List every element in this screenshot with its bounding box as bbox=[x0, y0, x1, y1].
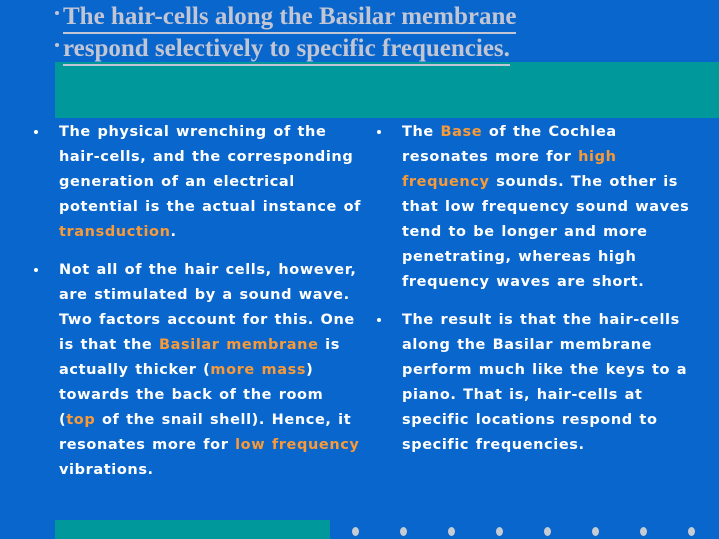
title-bullet-icon bbox=[55, 43, 59, 47]
slide-canvas: The hair-cells along the Basilar membran… bbox=[0, 0, 719, 539]
footer-dot-icon bbox=[688, 527, 695, 536]
title-line-1-text: The hair-cells along the Basilar membran… bbox=[63, 2, 516, 34]
bullet-dot-icon bbox=[377, 318, 381, 322]
bullet-text: sounds. The other is that low frequency … bbox=[402, 174, 689, 290]
footer-dot-icon bbox=[448, 527, 455, 536]
bullet-text: vibrations. bbox=[59, 462, 154, 478]
highlighted-term: low frequency bbox=[235, 437, 359, 453]
title-line-1: The hair-cells along the Basilar membran… bbox=[55, 2, 695, 34]
footer-accent-block bbox=[55, 520, 330, 539]
highlighted-term: Base bbox=[441, 124, 483, 140]
bullet-item: The Base of the Cochlea resonates more f… bbox=[368, 120, 708, 295]
highlighted-term: more mass bbox=[210, 362, 306, 378]
title-bullet-icon bbox=[55, 11, 59, 15]
bullet-dot-icon bbox=[34, 268, 38, 272]
header-accent-block bbox=[55, 62, 719, 118]
footer-dot-row bbox=[352, 527, 712, 539]
footer-dot-icon bbox=[640, 527, 647, 536]
bullet-text: The physical wrenching of the hair-cells… bbox=[59, 124, 361, 215]
footer-dot-icon bbox=[400, 527, 407, 536]
footer-dot-icon bbox=[544, 527, 551, 536]
slide-title: The hair-cells along the Basilar membran… bbox=[55, 2, 695, 66]
bullet-text: . bbox=[171, 224, 177, 240]
title-line-2: respond selectively to specific frequenc… bbox=[55, 34, 695, 66]
footer-dot-icon bbox=[496, 527, 503, 536]
highlighted-term: transduction bbox=[59, 224, 171, 240]
highlighted-term: Basilar membrane bbox=[159, 337, 319, 353]
bullet-item: Not all of the hair cells, however, are … bbox=[25, 258, 365, 483]
title-line-2-text: respond selectively to specific frequenc… bbox=[63, 34, 510, 66]
footer-dot-icon bbox=[592, 527, 599, 536]
right-content-column: The Base of the Cochlea resonates more f… bbox=[368, 120, 708, 471]
highlighted-term: top bbox=[66, 412, 95, 428]
bullet-text: The bbox=[402, 124, 441, 140]
bullet-dot-icon bbox=[34, 130, 38, 134]
bullet-item: The result is that the hair-cells along … bbox=[368, 308, 708, 458]
left-content-column: The physical wrenching of the hair-cells… bbox=[25, 120, 365, 496]
bullet-dot-icon bbox=[377, 130, 381, 134]
bullet-item: The physical wrenching of the hair-cells… bbox=[25, 120, 365, 245]
footer-dot-icon bbox=[352, 527, 359, 536]
bullet-text: The result is that the hair-cells along … bbox=[402, 312, 687, 453]
